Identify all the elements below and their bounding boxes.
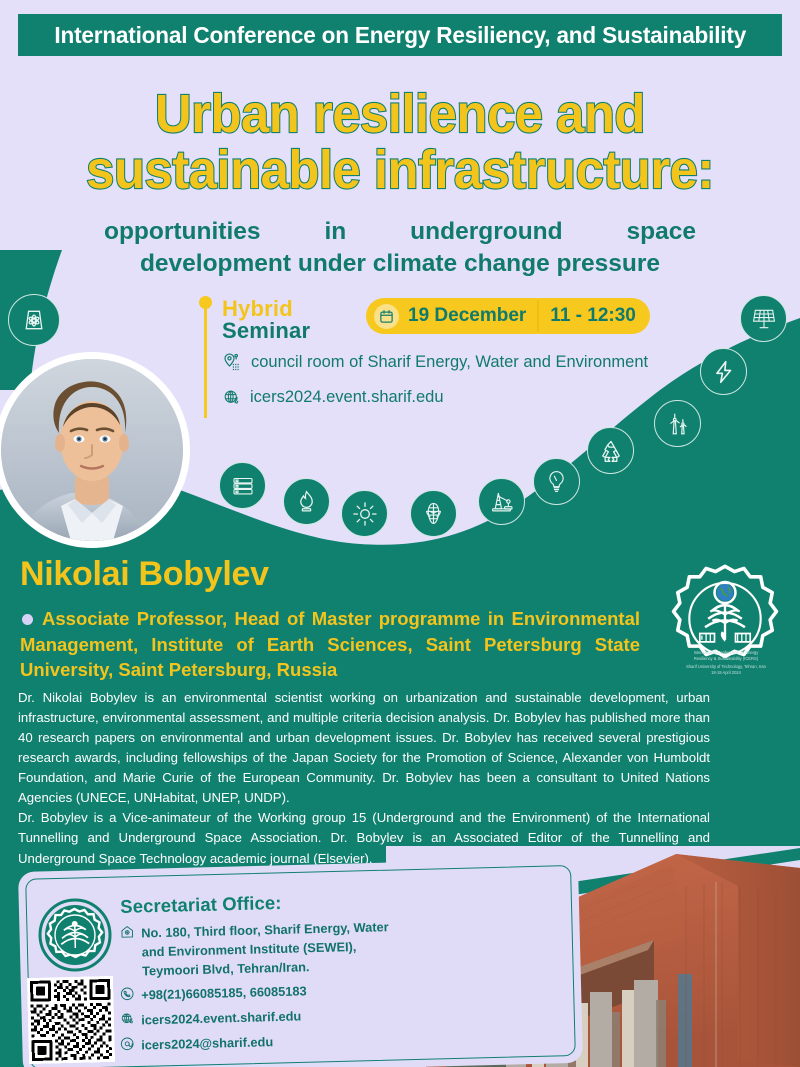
flame-icon — [283, 478, 330, 525]
location-pin-icon — [222, 352, 242, 372]
oil-derrick-icon — [478, 478, 525, 525]
secretariat-website-text: icers2024.event.sharif.edu — [141, 1006, 301, 1029]
lightbulb-icon — [533, 458, 580, 505]
recycle-icon — [587, 427, 634, 474]
lightning-bolt-icon — [700, 348, 747, 395]
icers-caption-line-2: Resiliency & Sustainability (ICERS) — [660, 656, 792, 662]
event-time: 11 - 12:30 — [539, 305, 636, 327]
nuclear-cooling-tower-icon — [8, 294, 60, 346]
event-mode-seminar: Seminar — [222, 318, 310, 344]
solar-panel-icon — [740, 295, 787, 342]
sun-icon — [341, 490, 388, 537]
globe-icon — [120, 1012, 134, 1032]
corn-icon — [410, 490, 457, 537]
event-date: 19 December — [408, 305, 537, 327]
poster-title: Urban resilience and sustainable infrast… — [0, 86, 800, 198]
event-venue-text: council room of Sharif Energy, Water and… — [251, 353, 648, 372]
subtitle-line-1: opportunities in underground space — [104, 216, 696, 248]
title-line-1: Urban resilience and — [24, 86, 776, 142]
speaker-biography: Dr. Nikolai Bobylev is an environmental … — [18, 688, 710, 869]
bio-paragraph-1: Dr. Nikolai Bobylev is an environmental … — [18, 688, 710, 808]
conference-banner: International Conference on Energy Resil… — [18, 14, 782, 56]
secretariat-address-text: No. 180, Third floor, Sharif Energy, Wat… — [141, 917, 391, 981]
globe-icon — [222, 388, 241, 407]
building-address-icon — [120, 925, 134, 945]
at-sign-icon — [120, 1037, 134, 1057]
date-time-pill: 19 December 11 - 12:30 — [366, 298, 650, 334]
conference-banner-title: International Conference on Energy Resil… — [54, 22, 746, 49]
secretariat-email-row[interactable]: icers2024@sharif.edu — [120, 1032, 273, 1056]
speaker-credentials: Associate Professor, Head of Master prog… — [20, 606, 640, 683]
poster-subtitle: opportunities in underground space devel… — [104, 216, 696, 281]
conference-poster: International Conference on Energy Resil… — [0, 0, 800, 1067]
speaker-photo-ring — [0, 352, 190, 548]
secretariat-email-text: icers2024@sharif.edu — [141, 1032, 273, 1055]
wind-turbine-icon — [654, 400, 701, 447]
detail-rail — [204, 300, 207, 418]
speaker-photo — [1, 359, 183, 541]
title-line-2: sustainable infrastructure: — [24, 142, 776, 198]
qr-code[interactable] — [27, 976, 115, 1064]
speaker-name: Nikolai Bobylev — [20, 555, 269, 594]
icers-caption-line-4: 18-19 April 2024 — [660, 670, 792, 676]
secretariat-address-row: No. 180, Third floor, Sharif Energy, Wat… — [120, 917, 391, 981]
phone-icon — [120, 987, 134, 1007]
event-venue-row: council room of Sharif Energy, Water and… — [222, 352, 648, 372]
calendar-icon — [374, 304, 399, 329]
secretariat-phone-text: +98(21)66085185, 66085183 — [141, 981, 307, 1004]
event-website-text: icers2024.event.sharif.edu — [250, 388, 444, 407]
event-website-row[interactable]: icers2024.event.sharif.edu — [222, 388, 444, 407]
icers-logo-caption: International Conference on Energy Resil… — [660, 650, 792, 676]
battery-stack-icon — [219, 462, 266, 509]
subtitle-line-2: development under climate change pressur… — [104, 248, 696, 280]
sharif-university-logo — [37, 897, 113, 973]
secretariat-heading: Secretariat Office: — [120, 892, 282, 918]
